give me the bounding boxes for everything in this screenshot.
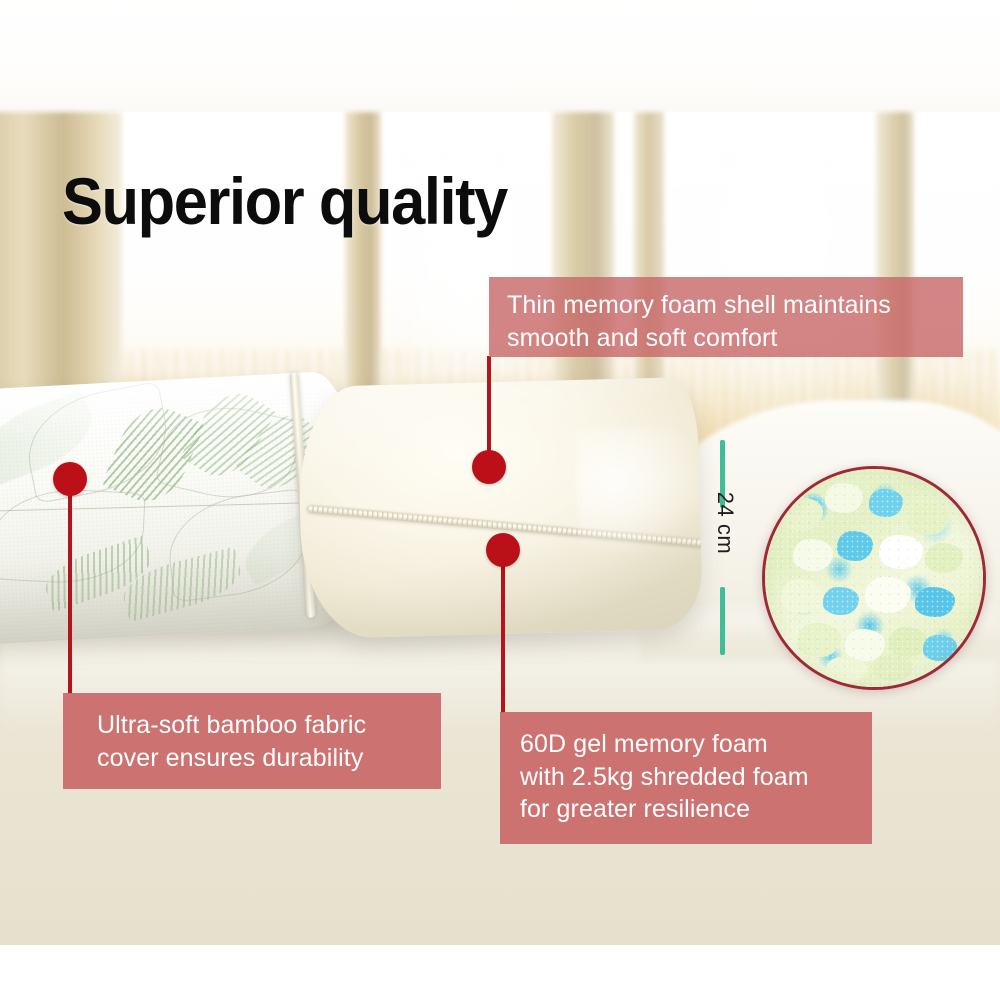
callout-gel-foam: 60D gel memory foam with 2.5kg shredded … [500,712,872,844]
wall-above-window [0,0,1000,118]
callout-line: with 2.5kg shredded foam [520,761,872,794]
callout-line: smooth and soft comfort [507,322,963,355]
dimension-bar-bottom [720,587,725,655]
memory-foam-shell-section [297,377,703,639]
marker-dot-foam-shell [472,450,506,484]
callout-bamboo-cover: Ultra-soft bamboo fabric cover ensures d… [63,693,441,789]
product-infographic: 24 cm Superior qualit [0,0,1000,1000]
marker-dot-gel-foam [486,533,520,567]
callout-line: for greater resilience [520,793,872,826]
bottom-white-strip [0,945,1000,1000]
gel-foam-closeup-circle [762,466,986,690]
leader-line-gel-foam [501,549,505,713]
dimension-marker: 24 cm [705,440,749,655]
callout-line: 60D gel memory foam [520,728,872,761]
dimension-label: 24 cm [712,483,738,563]
callout-line: Thin memory foam shell maintains [507,289,963,322]
callout-line: Ultra-soft bamboo fabric [97,709,441,742]
marker-dot-bamboo-cover [53,462,87,496]
callout-foam-shell: Thin memory foam shell maintains smooth … [489,277,963,357]
page-title: Superior quality [62,163,507,239]
foam-shading [297,377,703,639]
foam-vignette [765,469,983,687]
callout-line: cover ensures durability [97,742,441,775]
leader-line-bamboo-cover [68,478,72,694]
window-glare-right [660,112,890,412]
